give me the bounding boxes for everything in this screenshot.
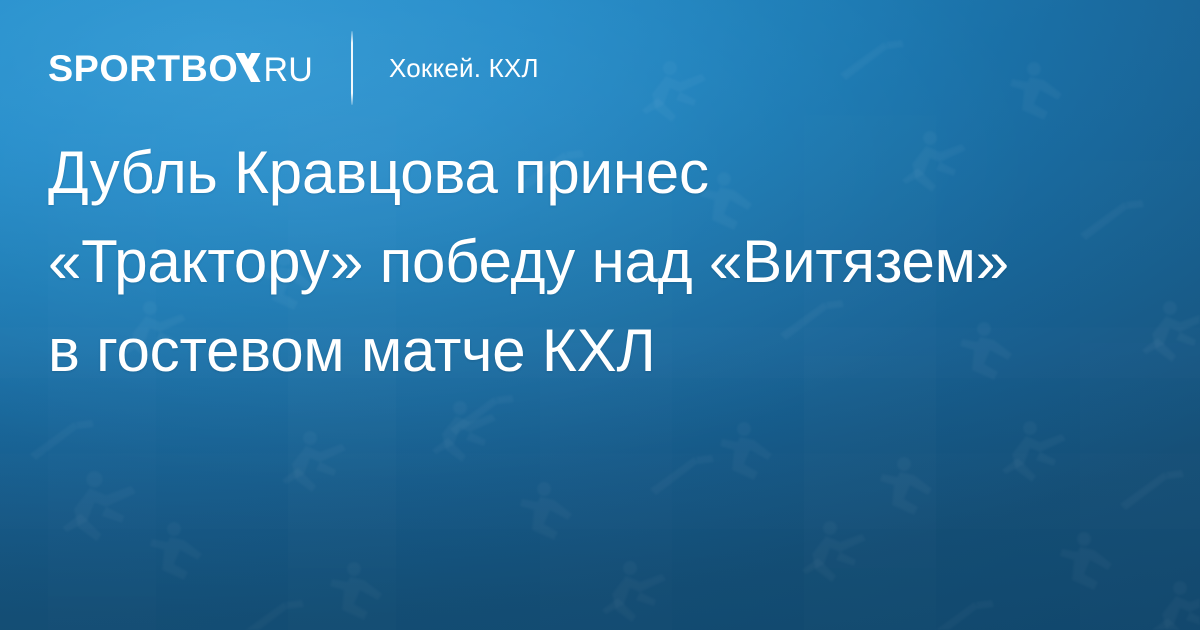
logo-tld: RU <box>263 53 313 87</box>
logo-wordmark: SPORTBO <box>48 50 238 87</box>
social-share-card: SPORTBO RU Хоккей. КХЛ Дубль Кравцова пр… <box>0 0 1200 630</box>
headline-line-2: «Трактору» победу над «Витязем» <box>48 217 1160 306</box>
headline-line-3: в гостевом матче КХЛ <box>48 306 1160 395</box>
card-header: SPORTBO RU Хоккей. КХЛ <box>48 42 539 94</box>
sportbox-logo[interactable]: SPORTBO RU <box>48 50 313 87</box>
headline: Дубль Кравцова принес «Трактору» победу … <box>48 128 1160 395</box>
logo-x-glyph-icon <box>235 53 261 82</box>
headline-line-1: Дубль Кравцова принес <box>48 128 1160 217</box>
section-label[interactable]: Хоккей. КХЛ <box>389 53 539 84</box>
header-divider-icon <box>351 31 353 105</box>
